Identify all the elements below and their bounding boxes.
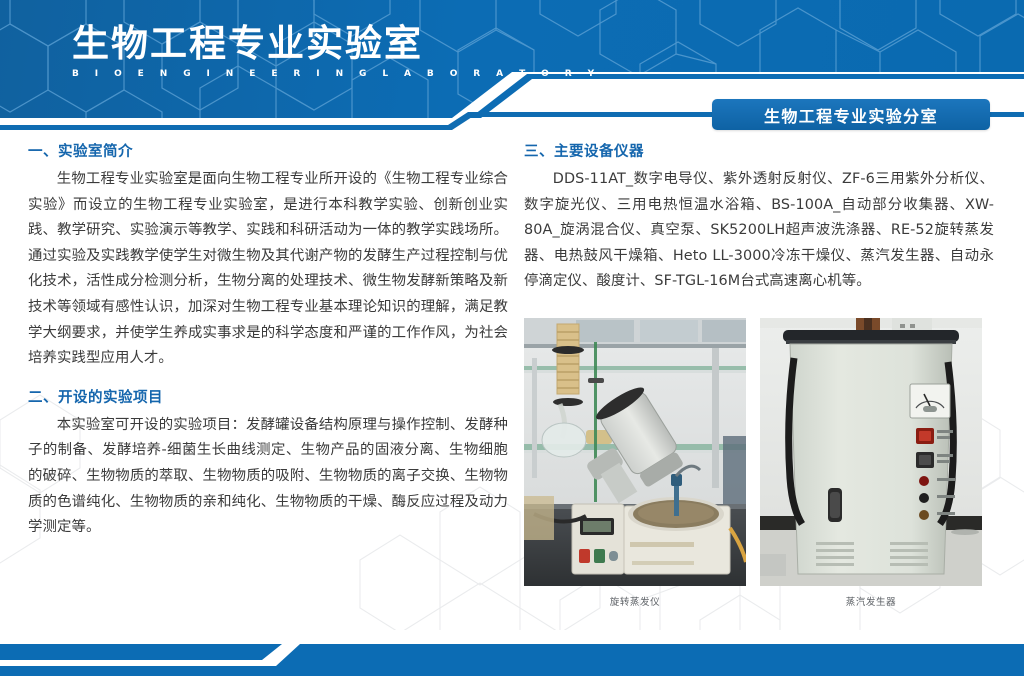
steam-generator-photo bbox=[760, 318, 982, 586]
photo-caption: 旋转蒸发仪 bbox=[524, 594, 746, 608]
section-heading-equipment: 三、主要设备仪器 bbox=[524, 140, 994, 161]
sub-lab-badge[interactable]: 生物工程专业实验分室 bbox=[712, 99, 990, 130]
page-subtitle: B I O E N G I N E E R I N G L A B O R A … bbox=[72, 69, 601, 79]
photo-cell-steam-generator: 蒸汽发生器 bbox=[760, 318, 982, 608]
photo-gallery: 旋转蒸发仪 bbox=[524, 318, 994, 608]
header-title-block: 生物工程专业实验室 B I O E N G I N E E R I N G L … bbox=[72, 22, 601, 79]
right-column: 三、主要设备仪器 DDS-11AT_数字电导仪、紫外透射反射仪、ZF-6三用紫外… bbox=[524, 140, 994, 295]
page-footer bbox=[0, 634, 1024, 676]
poster-page: 生物工程专业实验室 B I O E N G I N E E R I N G L … bbox=[0, 0, 1024, 676]
photo-caption: 蒸汽发生器 bbox=[760, 594, 982, 608]
section-body-equipment: DDS-11AT_数字电导仪、紫外透射反射仪、ZF-6三用紫外分析仪、数字旋光仪… bbox=[524, 167, 994, 295]
page-title: 生物工程专业实验室 bbox=[72, 22, 601, 66]
section-heading-intro: 一、实验室简介 bbox=[28, 140, 508, 161]
photo-cell-rotary-evaporator: 旋转蒸发仪 bbox=[524, 318, 746, 608]
section-body-intro: 生物工程专业实验室是面向生物工程专业所开设的《生物工程专业综合实验》而设立的生物… bbox=[28, 167, 508, 372]
rotary-evaporator-photo bbox=[524, 318, 746, 586]
section-heading-projects: 二、开设的实验项目 bbox=[28, 386, 508, 407]
sub-lab-badge-label: 生物工程专业实验分室 bbox=[764, 103, 938, 127]
left-column: 一、实验室简介 生物工程专业实验室是面向生物工程专业所开设的《生物工程专业综合实… bbox=[28, 140, 508, 541]
section-body-projects: 本实验室可开设的实验项目：发酵罐设备结构原理与操作控制、发酵种子的制备、发酵培养… bbox=[28, 413, 508, 541]
